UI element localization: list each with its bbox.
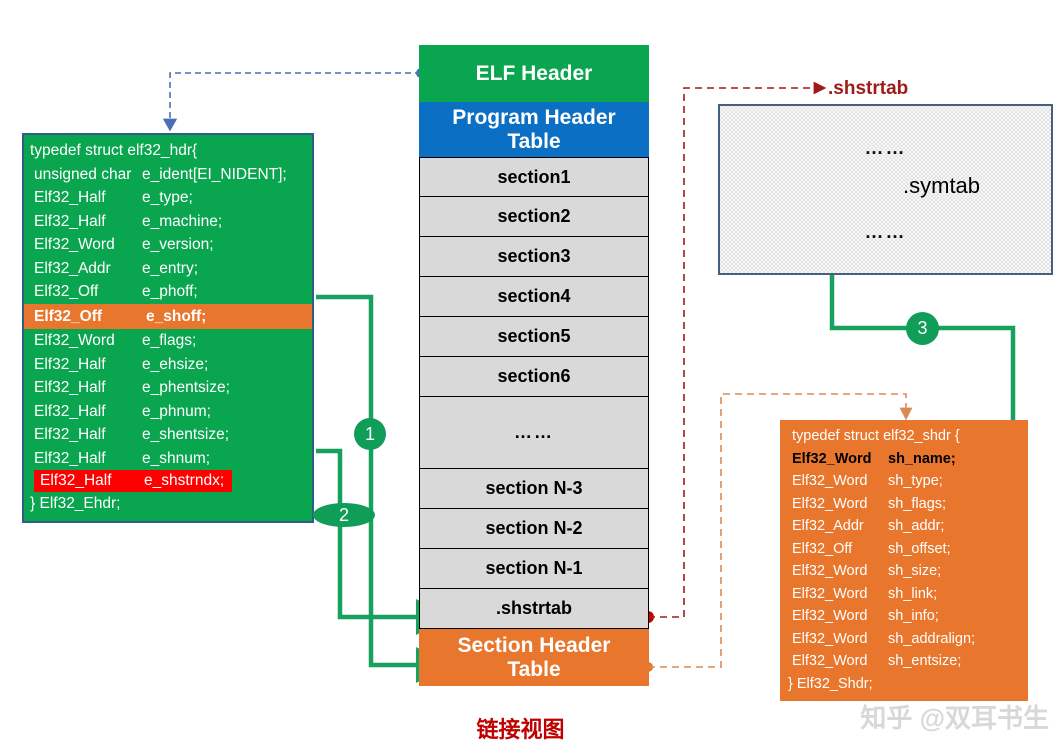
shdr-field-type: Elf32_Word xyxy=(792,452,888,467)
elf-band-section-header-table: Section HeaderTable xyxy=(419,629,649,686)
hdr-field-e_phentsize: Elf32_Halfe_phentsize; xyxy=(24,376,312,400)
hdr-field-name: e_ehsize; xyxy=(142,357,208,373)
shdr-field-sh_link: Elf32_Wordsh_link; xyxy=(780,583,1028,606)
hdr-field-name: e_shnum; xyxy=(142,451,210,467)
hdr-struct-open: typedef struct elf32_hdr{ xyxy=(24,139,312,163)
shdr-field-sh_entsize: Elf32_Wordsh_entsize; xyxy=(780,650,1028,673)
hdr-field-e_phoff: Elf32_Offe_phoff; xyxy=(24,280,312,304)
hdr-field-e_shentsize: Elf32_Halfe_shentsize; xyxy=(24,423,312,447)
elf-band-shstrtab: .shstrtab xyxy=(419,589,649,629)
elf-linking-view-diagram: …… …… .symtab .shstrtab ELF HeaderProgra… xyxy=(0,0,1061,744)
shdr-field-sh_addr: Elf32_Addrsh_addr; xyxy=(780,515,1028,538)
shdr-field-type: Elf32_Word xyxy=(792,497,888,512)
shstrtab-callout-label: .shstrtab xyxy=(828,78,908,100)
hdr-field-type: Elf32_Half xyxy=(34,427,142,443)
elf-band-section-n-2: section N-2 xyxy=(419,509,649,549)
elf-band-section5: section5 xyxy=(419,317,649,357)
elf-band-section-n-3: section N-3 xyxy=(419,469,649,509)
hdr-field-name: e_ident[EI_NIDENT]; xyxy=(142,167,287,183)
hdr-field-name: e_shstrndx; xyxy=(144,473,224,489)
hdr-field-type: Elf32_Half xyxy=(34,451,142,467)
shdr-field-name: sh_flags; xyxy=(888,497,946,512)
hdr-struct-close: } Elf32_Ehdr; xyxy=(24,492,312,516)
shdr-field-type: Elf32_Off xyxy=(792,542,888,557)
shdr-field-sh_type: Elf32_Wordsh_type; xyxy=(780,470,1028,493)
shdr-field-sh_offset: Elf32_Offsh_offset; xyxy=(780,538,1028,561)
shdr-struct-close: } Elf32_Shdr; xyxy=(780,673,1028,696)
wire-elfheader-to-hdrstruct xyxy=(170,68,426,125)
elf-band-section2: section2 xyxy=(419,197,649,237)
hdr-field-type: Elf32_Half xyxy=(34,380,142,396)
hdr-field-e_version: Elf32_Worde_version; xyxy=(24,233,312,257)
elf32-hdr-struct-box: typedef struct elf32_hdr{unsigned chare_… xyxy=(22,133,314,523)
hdr-field-type: Elf32_Addr xyxy=(34,261,142,277)
marker-2: 2 xyxy=(313,503,375,527)
hdr-field-type: unsigned char xyxy=(34,167,142,183)
hdr-field-name: e_shentsize; xyxy=(142,427,229,443)
hdr-field-type: Elf32_Off xyxy=(34,309,146,325)
hdr-field-type: Elf32_Half xyxy=(40,473,144,489)
hdr-field-name: e_phnum; xyxy=(142,404,211,420)
shdr-field-type: Elf32_Word xyxy=(792,587,888,602)
hdr-field-type: Elf32_Half xyxy=(34,214,142,230)
hdr-field-e_type: Elf32_Halfe_type; xyxy=(24,186,312,210)
elf-band-section-n-1: section N-1 xyxy=(419,549,649,589)
shdr-field-sh_size: Elf32_Wordsh_size; xyxy=(780,560,1028,583)
shdr-field-name: sh_info; xyxy=(888,609,939,624)
shdr-field-name: sh_addralign; xyxy=(888,632,975,647)
elf32-shdr-struct-box: typedef struct elf32_shdr {Elf32_Wordsh_… xyxy=(780,420,1028,701)
symtab-label: .symtab xyxy=(903,173,980,199)
shdr-field-type: Elf32_Word xyxy=(792,474,888,489)
marker-3: 3 xyxy=(906,312,939,345)
strtab-dots-bottom: …… xyxy=(720,222,1051,244)
hdr-field-name: e_flags; xyxy=(142,333,196,349)
hdr-field-name: e_phoff; xyxy=(142,284,198,300)
hdr-field-e_shnum: Elf32_Halfe_shnum; xyxy=(24,447,312,471)
shdr-field-sh_flags: Elf32_Wordsh_flags; xyxy=(780,493,1028,516)
hdr-field-e_phnum: Elf32_Halfe_phnum; xyxy=(24,400,312,424)
hdr-field-name: e_machine; xyxy=(142,214,222,230)
shdr-field-type: Elf32_Word xyxy=(792,609,888,624)
shdr-field-name: sh_offset; xyxy=(888,542,951,557)
elf-band-section4: section4 xyxy=(419,277,649,317)
shdr-field-name: sh_entsize; xyxy=(888,654,961,669)
elf-band-: …… xyxy=(419,397,649,469)
elf-file-layout-column: ELF HeaderProgram HeaderTablesection1sec… xyxy=(419,45,649,686)
hdr-field-e_machine: Elf32_Halfe_machine; xyxy=(24,210,312,234)
hdr-field-type: Elf32_Word xyxy=(34,237,142,253)
hdr-field-type: Elf32_Half xyxy=(34,404,142,420)
hdr-field-name: e_shoff; xyxy=(146,309,206,325)
shstrtab-detail-box: …… …… xyxy=(718,104,1053,275)
elf-band-program-header-table: Program HeaderTable xyxy=(419,102,649,157)
wire-1-eshoff-to-section-header-table xyxy=(316,297,434,665)
shdr-struct-open: typedef struct elf32_shdr { xyxy=(780,425,1028,448)
hdr-field-e_identEI_NIDENT: unsigned chare_ident[EI_NIDENT]; xyxy=(24,163,312,187)
elf-band-section3: section3 xyxy=(419,237,649,277)
elf-band-elf-header: ELF Header xyxy=(419,45,649,102)
hdr-field-type: Elf32_Off xyxy=(34,284,142,300)
shdr-field-sh_info: Elf32_Wordsh_info; xyxy=(780,605,1028,628)
shdr-field-sh_name: Elf32_Wordsh_name; xyxy=(780,448,1028,471)
shdr-field-type: Elf32_Word xyxy=(792,632,888,647)
shdr-field-name: sh_addr; xyxy=(888,519,944,534)
hdr-field-name: e_phentsize; xyxy=(142,380,230,396)
hdr-field-name: e_version; xyxy=(142,237,214,253)
shdr-field-type: Elf32_Word xyxy=(792,564,888,579)
diagram-caption-text: 链接视图 xyxy=(476,717,564,742)
hdr-field-e_entry: Elf32_Addre_entry; xyxy=(24,257,312,281)
shdr-field-name: sh_name; xyxy=(888,452,956,467)
shdr-field-sh_addralign: Elf32_Wordsh_addralign; xyxy=(780,628,1028,651)
hdr-field-type: Elf32_Word xyxy=(34,333,142,349)
hdr-field-name: e_entry; xyxy=(142,261,198,277)
shdr-field-name: sh_link; xyxy=(888,587,937,602)
shdr-field-name: sh_size; xyxy=(888,564,941,579)
shdr-field-type: Elf32_Word xyxy=(792,654,888,669)
hdr-field-type: Elf32_Half xyxy=(34,190,142,206)
hdr-field-name: e_type; xyxy=(142,190,193,206)
shdr-field-name: sh_type; xyxy=(888,474,943,489)
hdr-field-e_shstrndx: Elf32_Halfe_shstrndx; xyxy=(24,470,312,492)
elf-band-section6: section6 xyxy=(419,357,649,397)
hdr-field-type: Elf32_Half xyxy=(34,357,142,373)
hdr-field-e_flags: Elf32_Worde_flags; xyxy=(24,329,312,353)
watermark: 知乎 @双耳书生 xyxy=(860,698,1049,735)
hdr-field-e_shoff: Elf32_Offe_shoff; xyxy=(24,304,312,330)
strtab-dots-top: …… xyxy=(720,138,1051,160)
wire-2-eshstrndx-to-shstrtab xyxy=(316,451,434,617)
shdr-field-type: Elf32_Addr xyxy=(792,519,888,534)
marker-1: 1 xyxy=(354,418,386,450)
elf-band-section1: section1 xyxy=(419,157,649,197)
hdr-field-e_ehsize: Elf32_Halfe_ehsize; xyxy=(24,353,312,377)
